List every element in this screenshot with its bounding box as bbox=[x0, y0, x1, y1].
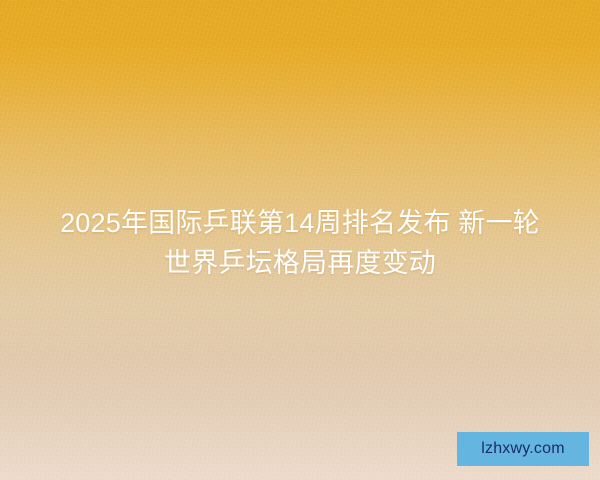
watermark-badge: lzhxwy.com bbox=[457, 432, 589, 466]
headline-line-2: 世界乒坛格局再度变动 bbox=[12, 243, 588, 283]
headline-title: 2025年国际乒联第14周排名发布 新一轮 世界乒坛格局再度变动 bbox=[0, 203, 600, 283]
headline-line-1: 2025年国际乒联第14周排名发布 新一轮 bbox=[12, 203, 588, 243]
image-banner: 2025年国际乒联第14周排名发布 新一轮 世界乒坛格局再度变动 lzhxwy.… bbox=[0, 0, 600, 480]
watermark-text: lzhxwy.com bbox=[481, 441, 565, 457]
